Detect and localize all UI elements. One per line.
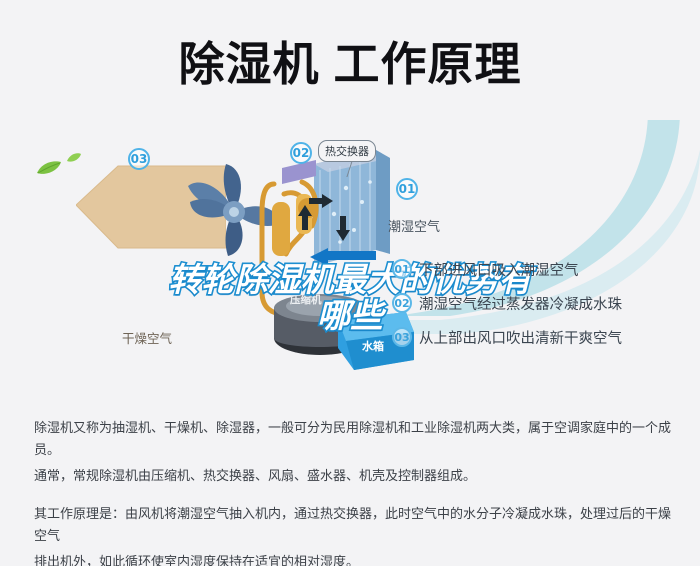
step-text: 下部进风口吸入潮湿空气 [419,259,579,280]
page-title: 除湿机工作原理 [0,28,700,94]
dry-air-label: 干燥空气 [122,328,172,347]
title-main: 除湿机 [179,37,320,91]
body-copy: 除湿机又称为抽湿机、干燥机、除湿器，一般可分为民用除湿机和工业除湿机两大类，属于… [34,418,674,566]
steps-list: 01 下部进风口吸入潮湿空气 02 潮湿空气经过蒸发器冷凝成水珠 03 从上部出… [392,252,692,354]
heat-exchanger-label: 热交换器 [325,145,369,158]
compressor-label: 压缩机 [290,292,322,307]
step-item-03: 03 从上部出风口吹出清新干爽空气 [392,320,692,354]
paragraph-1-line-1: 除湿机又称为抽湿机、干燥机、除湿器，一般可分为民用除湿机和工业除湿机两大类，属于… [34,418,674,462]
step-text: 潮湿空气经过蒸发器冷凝成水珠 [419,293,622,314]
humid-air-label: 潮湿空气 [388,216,440,235]
paragraph-1-line-2: 通常，常规除湿机由压缩机、热交换器、风扇、盛水器、机壳及控制器组成。 [34,466,674,488]
badge-01: 01 [396,178,418,200]
paragraph-2-line-2: 排出机外，如此循环使室内湿度保持在适宜的相对湿度。 [34,552,674,566]
step-item-02: 02 潮湿空气经过蒸发器冷凝成水珠 [392,286,692,320]
step-number: 02 [392,293,412,313]
water-tank-label: 水箱 [362,338,384,354]
paragraph-2-line-1: 其工作原理是：由风机将潮湿空气抽入机内，通过热交换器，此时空气中的水分子冷凝成水… [34,504,674,548]
title-sub: 工作原理 [334,37,522,91]
step-item-01: 01 下部进风口吸入潮湿空气 [392,252,692,286]
step-number: 03 [392,327,412,347]
step-number: 01 [392,259,412,279]
badge-03: 03 [128,148,150,170]
intake-arrow-icon [310,248,376,266]
step-text: 从上部出风口吹出清新干爽空气 [419,327,622,348]
badge-02: 02 [290,142,312,164]
heat-exchanger-callout: 热交换器 [318,140,376,162]
infographic-page: 除湿机工作原理 干燥空气 [0,0,700,566]
leaf-icon [36,160,62,180]
paragraph-gap [34,492,674,504]
